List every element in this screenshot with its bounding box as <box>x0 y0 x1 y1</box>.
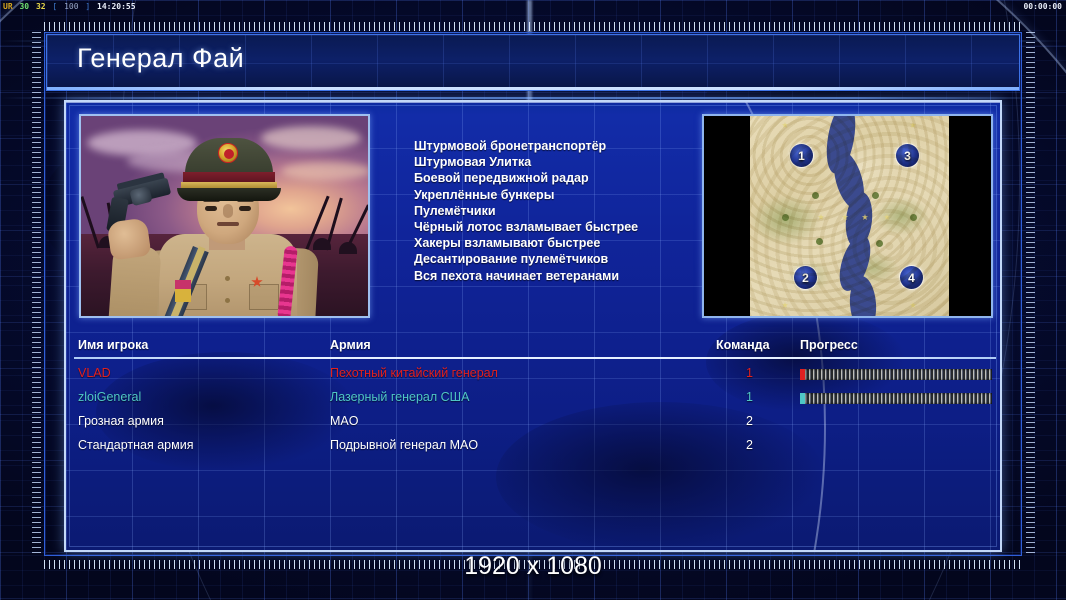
map-river-segment <box>848 275 878 318</box>
portrait-cap-brim <box>177 188 281 201</box>
status-value-two: 32 <box>35 2 47 11</box>
table-row[interactable]: Грозная армия MAO 2 <box>78 414 992 438</box>
status-clock: 14:20:55 <box>96 2 137 11</box>
table-row[interactable]: Стандартная армия Подрывной генерал MAO … <box>78 438 992 462</box>
progress-bar <box>800 369 992 380</box>
portrait-button <box>225 276 230 281</box>
map-start-position-3[interactable]: 3 <box>896 144 919 167</box>
ability-item: Десантирование пулемётчиков <box>414 251 714 267</box>
cell-team: 1 <box>746 390 753 404</box>
top-status-left: UR 30 32 [ 100 ] 14:20:55 <box>2 0 137 13</box>
status-percent: 100 <box>63 2 79 11</box>
portrait-cap-badge <box>218 143 238 163</box>
map-river-segment <box>834 231 877 294</box>
map-supply-marker <box>818 214 824 220</box>
cell-team: 1 <box>746 366 753 380</box>
ruler-left <box>32 32 41 556</box>
map-supply-marker <box>884 214 890 220</box>
map-supply-marker <box>862 214 868 220</box>
map-tree <box>872 192 879 199</box>
map-terrain: 1 2 3 4 <box>750 116 949 316</box>
status-bracket-close: ] <box>84 2 91 11</box>
portrait-helmet-silhouette <box>339 242 357 254</box>
cell-army: MAO <box>330 414 358 428</box>
map-tree <box>876 240 883 247</box>
map-supply-marker <box>910 302 916 308</box>
progress-bar <box>800 393 992 404</box>
column-header-army: Армия <box>330 338 371 352</box>
map-supply-marker <box>782 122 788 128</box>
map-start-position-4[interactable]: 4 <box>900 266 923 289</box>
ability-item: Штурмовая Улитка <box>414 154 714 170</box>
cell-player: Стандартная армия <box>78 438 193 452</box>
map-supply-marker <box>842 214 848 220</box>
content-panel: Штурмовой бронетранспортёр Штурмовая Ули… <box>64 100 1002 552</box>
portrait-mouth <box>217 222 239 226</box>
ability-item: Боевой передвижной радар <box>414 170 714 186</box>
table-row[interactable]: zloiGeneral Лазерный генерал США 1 <box>78 390 992 414</box>
player-table-header: Имя игрока Армия Команда Прогресс <box>78 338 992 358</box>
ability-item: Укреплённые бункеры <box>414 187 714 203</box>
cell-player: Грозная армия <box>78 414 164 428</box>
ruler-top <box>44 22 1022 31</box>
map-river-segment <box>822 114 860 176</box>
map-tree <box>782 214 789 221</box>
ability-item: Хакеры взламывают быстрее <box>414 235 714 251</box>
title-underline <box>47 87 1020 90</box>
ability-item: Чёрный лотос взламывает быстрее <box>414 219 714 235</box>
cell-team: 2 <box>746 414 753 428</box>
resolution-overlay: 1920 x 1080 <box>0 552 1066 581</box>
portrait-cloud <box>261 126 361 150</box>
portrait-artwork <box>81 116 368 316</box>
portrait-button <box>225 298 230 303</box>
status-bracket-open: [ <box>51 2 58 11</box>
ability-item: Вся пехота начинает ветеранами <box>414 268 714 284</box>
top-status-bar: UR 30 32 [ 100 ] 14:20:55 00:00:00 <box>0 0 1066 13</box>
table-header-divider <box>74 357 996 359</box>
portrait-nose <box>223 204 233 218</box>
column-header-player: Имя игрока <box>78 338 148 352</box>
portrait-helmet-silhouette <box>313 238 331 250</box>
cell-army: Лазерный генерал США <box>330 390 469 404</box>
ability-item: Штурмовой бронетранспортёр <box>414 138 714 154</box>
cell-player: zloiGeneral <box>78 390 141 404</box>
portrait-medal <box>175 280 191 302</box>
map-supply-marker <box>910 122 916 128</box>
title-panel: Генерал Фай <box>46 34 1020 91</box>
map-start-position-1[interactable]: 1 <box>790 144 813 167</box>
status-value-one: 30 <box>18 2 30 11</box>
column-header-team: Команда <box>716 338 770 352</box>
progress-bar-fill <box>805 393 992 404</box>
map-tree <box>910 214 917 221</box>
progress-bar-fill <box>805 369 992 380</box>
cell-player: VLAD <box>78 366 111 380</box>
table-row[interactable]: VLAD Пехотный китайский генерал 1 <box>78 366 992 390</box>
portrait-hand <box>107 217 152 260</box>
page-title: Генерал Фай <box>77 43 244 74</box>
ability-item: Пулемётчики <box>414 203 714 219</box>
portrait-eye <box>205 206 217 211</box>
portrait-eye <box>239 206 251 211</box>
map-tree <box>816 238 823 245</box>
ruler-right <box>1026 32 1035 556</box>
status-tag: UR <box>2 2 14 11</box>
portrait-cloud <box>281 162 370 180</box>
cell-army: Пехотный китайский генерал <box>330 366 498 380</box>
portrait-pocket <box>249 284 279 310</box>
session-timer: 00:00:00 <box>1023 0 1062 13</box>
map-river-segment <box>843 191 875 249</box>
general-portrait <box>79 114 370 318</box>
cell-team: 2 <box>746 438 753 452</box>
ability-list: Штурмовой бронетранспортёр Штурмовая Ули… <box>414 138 714 284</box>
column-header-progress: Прогресс <box>800 338 858 352</box>
map-tree <box>812 192 819 199</box>
map-supply-marker <box>782 302 788 308</box>
cell-army: Подрывной генерал MAO <box>330 438 478 452</box>
map-preview[interactable]: 1 2 3 4 <box>702 114 993 318</box>
map-river-segment <box>828 148 870 213</box>
map-start-position-2[interactable]: 2 <box>794 266 817 289</box>
